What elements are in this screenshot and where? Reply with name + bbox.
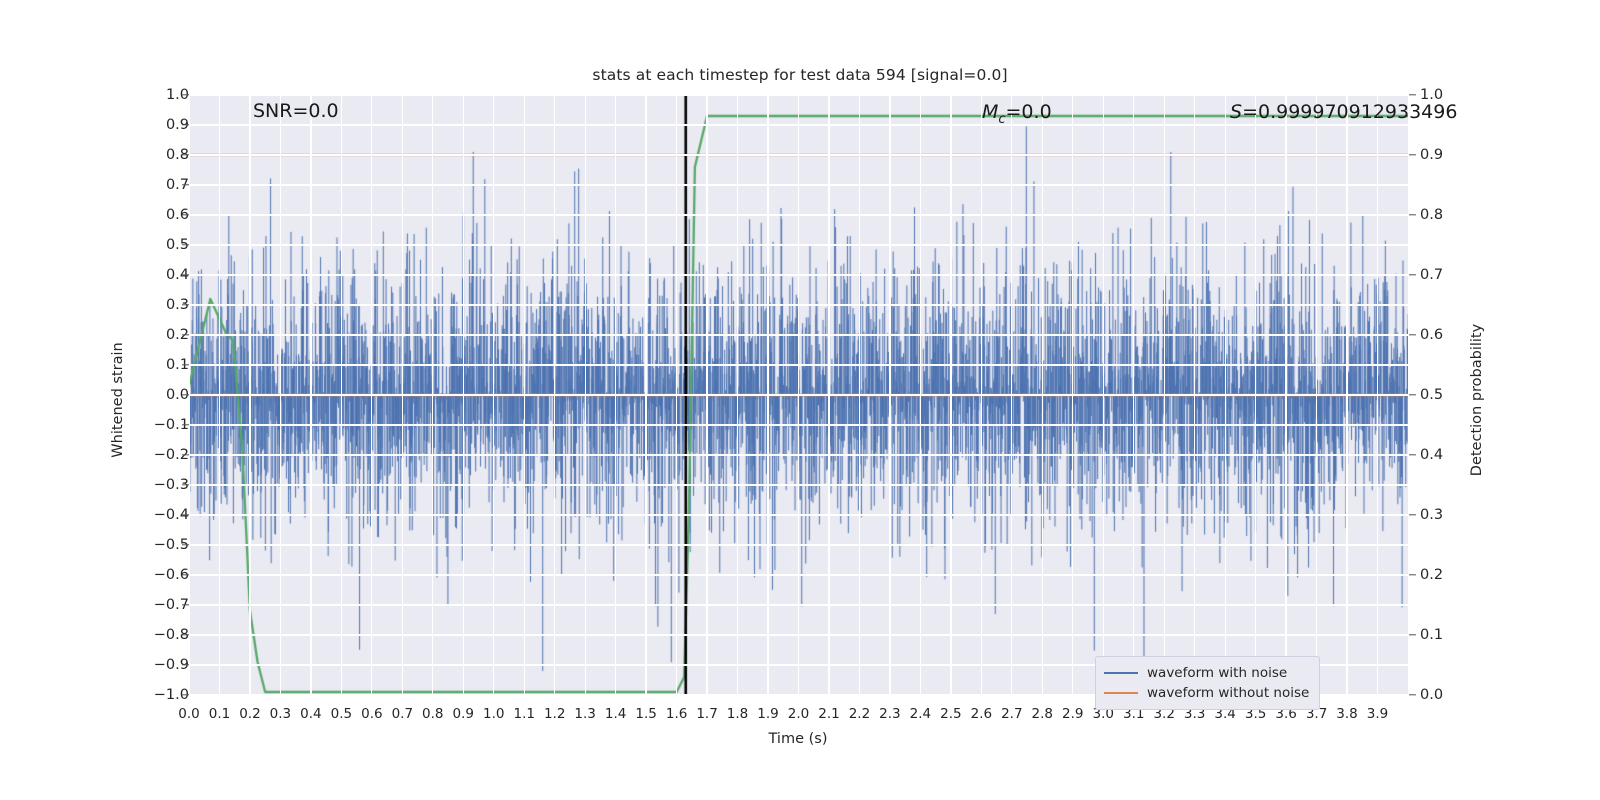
x-tick-label: 0.2 [239, 706, 260, 722]
legend-color-swatch [1104, 692, 1138, 694]
y-tick-mark-right [1409, 334, 1416, 335]
x-tick-label: 2.2 [849, 706, 870, 722]
y-tick-mark-right [1409, 154, 1416, 155]
y-tick-label-right: 0.3 [1420, 507, 1480, 523]
gridline-vertical [524, 95, 525, 695]
y-tick-label-right: 0.1 [1420, 627, 1480, 643]
legend-entry: waveform without noise [1104, 683, 1309, 703]
gridline-vertical [1316, 95, 1317, 695]
gridline-vertical [798, 95, 799, 695]
x-tick-label: 1.8 [727, 706, 748, 722]
y-tick-label-left: −0.2 [129, 447, 189, 463]
gridline-vertical [828, 95, 829, 695]
gridline-vertical [280, 95, 281, 695]
gridline-vertical [920, 95, 921, 695]
gridline-vertical [310, 95, 311, 695]
gridline-vertical [371, 95, 372, 695]
y-tick-mark-left [182, 514, 189, 515]
y-tick-mark-right [1409, 514, 1416, 515]
y-tick-label-right: 0.7 [1420, 267, 1480, 283]
x-tick-label: 3.8 [1336, 706, 1357, 722]
y-tick-label-right: 0.2 [1420, 567, 1480, 583]
y-tick-mark-right [1409, 214, 1416, 215]
x-tick-label: 0.5 [331, 706, 352, 722]
legend-color-swatch [1104, 672, 1138, 674]
y-tick-label-left: 0.0 [129, 387, 189, 403]
legend-entry: waveform with noise [1104, 663, 1309, 683]
legend: waveform with noisewaveform without nois… [1095, 656, 1320, 710]
x-tick-label: 1.2 [544, 706, 565, 722]
gridline-vertical [859, 95, 860, 695]
gridline-vertical [706, 95, 707, 695]
y-tick-mark-left [182, 304, 189, 305]
y-tick-mark-left [182, 274, 189, 275]
y-tick-mark-left [182, 454, 189, 455]
y-tick-label-left: 0.6 [129, 207, 189, 223]
s-value: =0.999970912933496 [1242, 101, 1457, 123]
y-tick-mark-left [182, 634, 189, 635]
x-tick-label: 2.3 [879, 706, 900, 722]
gridline-vertical [1042, 95, 1043, 695]
gridline-vertical [463, 95, 464, 695]
y-tick-mark-left [182, 544, 189, 545]
gridline-vertical [981, 95, 982, 695]
y-tick-mark-left [182, 574, 189, 575]
gridline-vertical [554, 95, 555, 695]
gridline-vertical [1377, 95, 1378, 695]
y-tick-mark-right [1409, 274, 1416, 275]
x-axis-label: Time (s) [769, 731, 828, 747]
x-tick-label: 1.6 [666, 706, 687, 722]
mc-value: =0.0 [1006, 101, 1052, 123]
x-tick-label: 2.7 [1001, 706, 1022, 722]
x-tick-label: 2.4 [910, 706, 931, 722]
figure-canvas: stats at each timestep for test data 594… [0, 0, 1600, 800]
y-tick-mark-left [182, 244, 189, 245]
y-tick-mark-right [1409, 394, 1416, 395]
x-tick-label: 0.6 [361, 706, 382, 722]
y-tick-label-left: 0.3 [129, 297, 189, 313]
y-tick-mark-left [182, 154, 189, 155]
x-tick-label: 2.0 [788, 706, 809, 722]
gridline-vertical [249, 95, 250, 695]
gridline-vertical [737, 95, 738, 695]
x-tick-label: 1.1 [513, 706, 534, 722]
annotation-snr: SNR=0.0 [253, 100, 339, 122]
x-tick-label: 0.9 [453, 706, 474, 722]
gridline-vertical [676, 95, 677, 695]
gridline-vertical [1255, 95, 1256, 695]
y-tick-label-left: 0.5 [129, 237, 189, 253]
x-tick-label: 0.8 [422, 706, 443, 722]
gridline-vertical [432, 95, 433, 695]
x-tick-label: 2.8 [1032, 706, 1053, 722]
gridline-vertical [889, 95, 890, 695]
gridline-vertical [1225, 95, 1226, 695]
plot-area [189, 95, 1408, 695]
gridline-vertical [493, 95, 494, 695]
y-tick-mark-left [182, 604, 189, 605]
y-tick-label-left: −0.7 [129, 597, 189, 613]
y-tick-label-left: 1.0 [129, 87, 189, 103]
y-tick-label-left: 0.7 [129, 177, 189, 193]
gridline-vertical [341, 95, 342, 695]
x-tick-label: 1.7 [696, 706, 717, 722]
x-tick-label: 0.3 [270, 706, 291, 722]
y-tick-label-right: 0.0 [1420, 687, 1480, 703]
y-tick-mark-left [182, 184, 189, 185]
y-tick-mark-left [182, 484, 189, 485]
y-tick-label-left: 0.4 [129, 267, 189, 283]
x-tick-label: 2.6 [971, 706, 992, 722]
x-tick-label: 2.5 [940, 706, 961, 722]
annotation-chirp-mass: Mc=0.0 [982, 101, 1052, 127]
gridline-vertical [1133, 95, 1134, 695]
y-tick-label-left: −0.5 [129, 537, 189, 553]
y-axis-label-right: Detection probability [1469, 324, 1485, 476]
y-tick-label-left: −0.3 [129, 477, 189, 493]
y-tick-mark-left [182, 694, 189, 695]
y-tick-label-right: 0.9 [1420, 147, 1480, 163]
gridline-vertical [1194, 95, 1195, 695]
x-tick-label: 1.4 [605, 706, 626, 722]
y-tick-mark-left [182, 94, 189, 95]
legend-label: waveform without noise [1147, 685, 1309, 701]
gridline-vertical [1072, 95, 1073, 695]
s-symbol: S [1230, 101, 1242, 123]
mc-subscript: c [998, 112, 1005, 127]
x-tick-label: 1.3 [574, 706, 595, 722]
y-axis-label-left: Whitened strain [110, 342, 126, 457]
y-tick-label-left: −0.9 [129, 657, 189, 673]
y-tick-mark-right [1409, 634, 1416, 635]
y-tick-label-left: −0.6 [129, 567, 189, 583]
y-tick-mark-left [182, 664, 189, 665]
y-tick-mark-left [182, 364, 189, 365]
y-tick-label-left: −1.0 [129, 687, 189, 703]
y-tick-mark-right [1409, 694, 1416, 695]
gridline-vertical [585, 95, 586, 695]
gridline-vertical [1164, 95, 1165, 695]
gridline-vertical [615, 95, 616, 695]
gridline-vertical [1346, 95, 1347, 695]
y-tick-mark-left [182, 124, 189, 125]
y-tick-label-left: −0.4 [129, 507, 189, 523]
legend-label: waveform with noise [1147, 665, 1287, 681]
y-tick-label-left: 0.9 [129, 117, 189, 133]
gridline-vertical [645, 95, 646, 695]
x-tick-label: 1.9 [757, 706, 778, 722]
gridline-vertical [1285, 95, 1286, 695]
chart-title: stats at each timestep for test data 594… [0, 66, 1600, 84]
y-tick-label-left: −0.8 [129, 627, 189, 643]
y-tick-label-left: 0.2 [129, 327, 189, 343]
y-tick-mark-left [182, 214, 189, 215]
y-tick-label-left: 0.8 [129, 147, 189, 163]
gridline-vertical [950, 95, 951, 695]
x-tick-label: 3.9 [1367, 706, 1388, 722]
x-tick-label: 0.7 [392, 706, 413, 722]
y-tick-mark-left [182, 424, 189, 425]
y-tick-mark-left [182, 334, 189, 335]
gridline-vertical [767, 95, 768, 695]
gridline-vertical [189, 95, 190, 695]
x-tick-label: 2.1 [818, 706, 839, 722]
y-tick-label-left: 0.1 [129, 357, 189, 373]
gridline-vertical [1103, 95, 1104, 695]
gridline-vertical [402, 95, 403, 695]
x-tick-label: 1.0 [483, 706, 504, 722]
x-tick-label: 0.0 [178, 706, 199, 722]
x-tick-label: 2.9 [1062, 706, 1083, 722]
x-tick-label: 1.5 [635, 706, 656, 722]
gridline-vertical [1011, 95, 1012, 695]
y-tick-mark-left [182, 394, 189, 395]
gridline-vertical [219, 95, 220, 695]
y-tick-mark-right [1409, 94, 1416, 95]
mc-symbol: M [982, 101, 998, 123]
y-tick-label-left: −0.1 [129, 417, 189, 433]
y-tick-mark-right [1409, 454, 1416, 455]
x-tick-label: 0.4 [300, 706, 321, 722]
y-tick-mark-right [1409, 574, 1416, 575]
annotation-score: S=0.999970912933496 [1230, 101, 1457, 123]
x-tick-label: 0.1 [209, 706, 230, 722]
y-tick-label-right: 0.8 [1420, 207, 1480, 223]
